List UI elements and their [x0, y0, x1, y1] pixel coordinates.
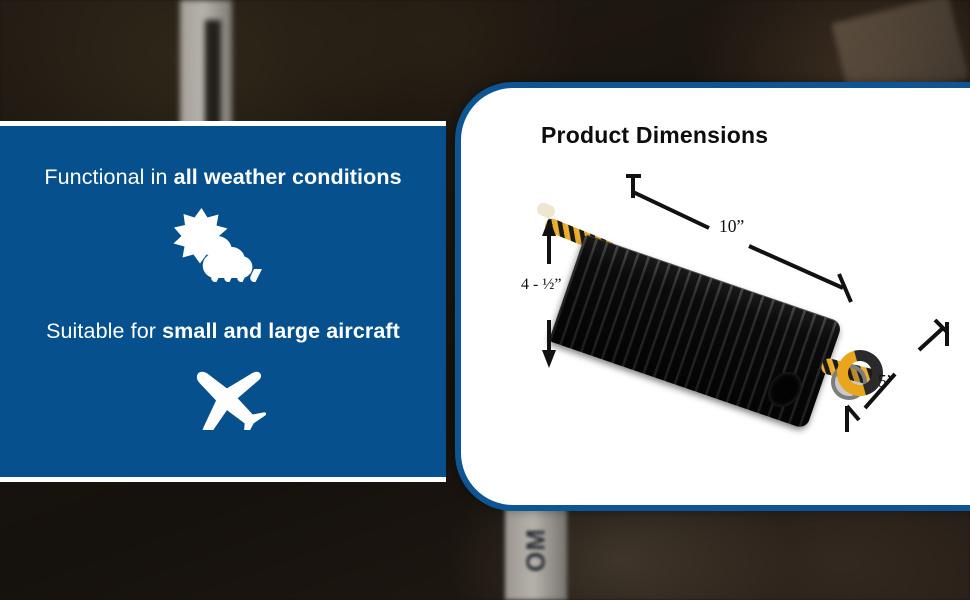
feature-weather-text-regular: Functional in: [44, 165, 173, 189]
feature-weather-text: Functional in all weather conditions: [0, 165, 446, 190]
dimension-label-width: 5”: [878, 371, 895, 392]
wheel-chock-product-image: [537, 204, 877, 404]
background-sign-text: OM: [505, 500, 567, 600]
feature-aircraft-icon-wrap: [0, 360, 446, 430]
feature-item-aircraft: Suitable for small and large aircraft: [0, 319, 446, 430]
chock-ribs: [549, 235, 843, 429]
feature-aircraft-text-bold: small and large aircraft: [162, 319, 400, 343]
feature-weather-icon-wrap: [0, 206, 446, 282]
feature-aircraft-text: Suitable for small and large aircraft: [0, 319, 446, 344]
background-post-top-shadow: [205, 20, 221, 128]
feature-weather-text-bold: all weather conditions: [174, 165, 402, 189]
dimension-label-length: 10”: [719, 216, 744, 237]
feature-aircraft-text-regular: Suitable for: [46, 319, 162, 343]
dimension-diagram: 10” 4 - ½” 5”: [461, 88, 970, 505]
product-dimensions-panel: Product Dimensions: [455, 82, 970, 511]
chock-body: [549, 235, 843, 429]
dimension-label-height: 4 - ½”: [521, 276, 561, 294]
feature-item-weather: Functional in all weather conditions: [0, 165, 446, 282]
feature-highlights-panel: Functional in all weather conditions Sui…: [0, 121, 446, 482]
sun-behind-rain-cloud-icon: [171, 206, 275, 282]
airplane-icon: [180, 360, 266, 430]
rope-tip: [535, 201, 557, 220]
